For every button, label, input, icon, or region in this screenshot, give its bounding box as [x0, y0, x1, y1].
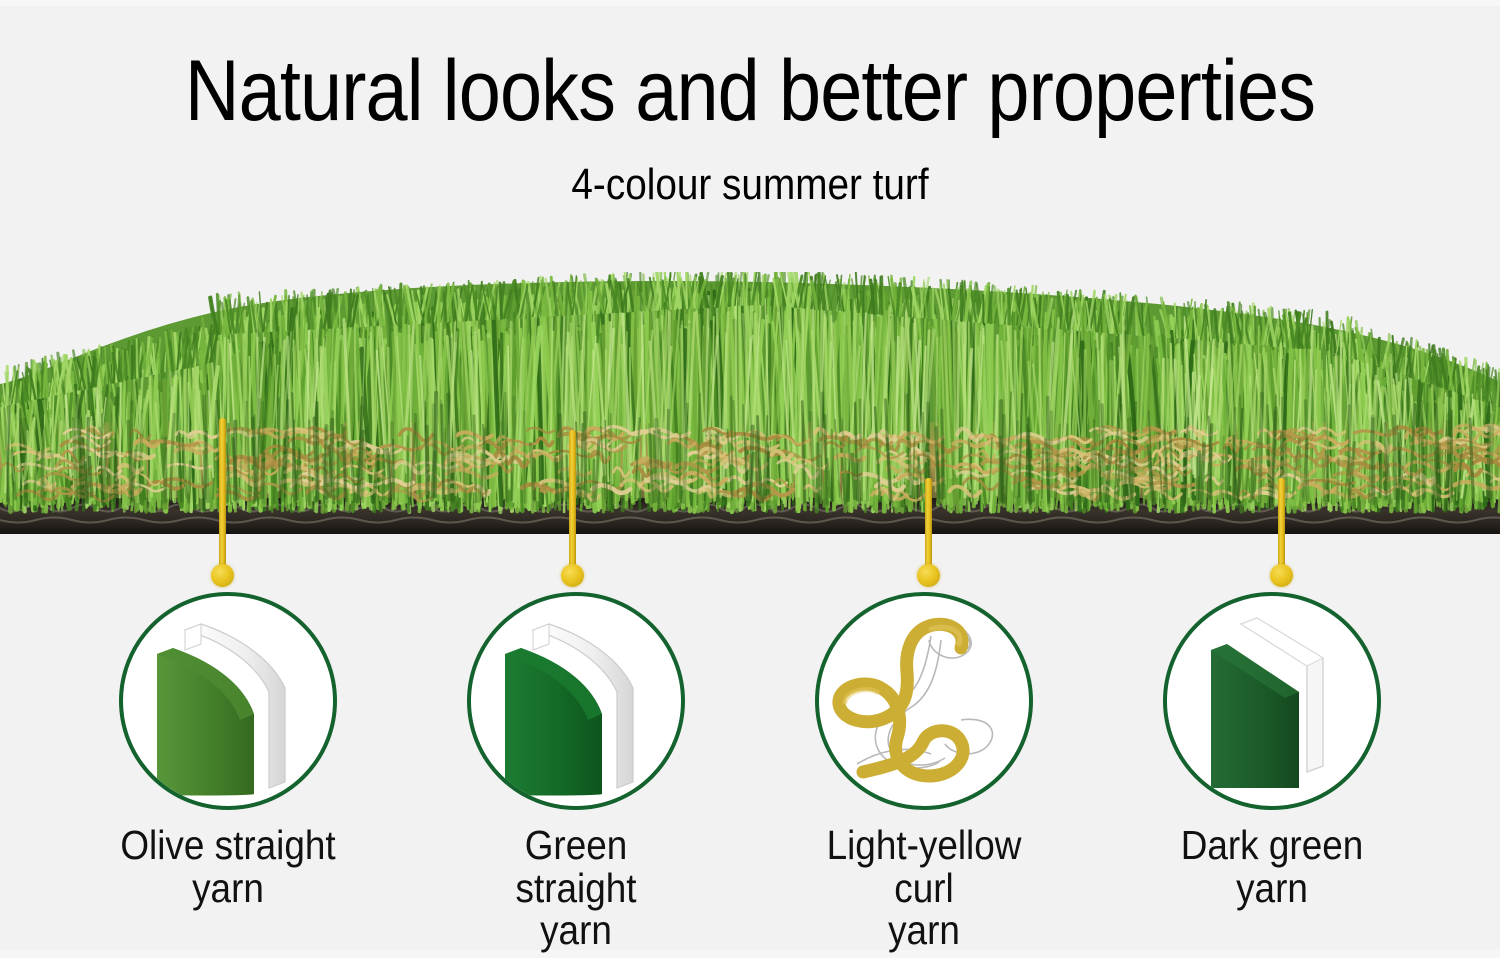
dark-green-flat-blade-icon [1163, 592, 1381, 810]
pointer-dot [561, 564, 584, 587]
curled-yarn-icon [815, 592, 1033, 810]
feature-label: Light-yellow curl yarn [816, 824, 1032, 952]
feature-olive-straight-yarn[interactable]: Olive straight yarn [108, 592, 348, 952]
feature-dark-green-yarn[interactable]: Dark green yarn [1152, 592, 1392, 952]
page-title: Natural looks and better properties [90, 48, 1410, 134]
green-curved-blade-icon [467, 592, 685, 810]
pointer-dot [917, 564, 940, 587]
pointer-dot [1270, 564, 1293, 587]
olive-curved-blade-icon [119, 592, 337, 810]
feature-label: Olive straight yarn [120, 824, 336, 909]
page-subtitle: 4-colour summer turf [90, 160, 1410, 210]
feature-light-yellow-curl-yarn[interactable]: Light-yellow curl yarn [804, 592, 1044, 952]
feature-row: Olive straight yarn [0, 592, 1500, 952]
pointer-line [1278, 478, 1285, 570]
pointer-line [925, 478, 932, 570]
feature-label: Dark green yarn [1164, 824, 1380, 909]
top-edge-band [0, 0, 1500, 6]
feature-label: Green straight yarn [468, 824, 684, 952]
infographic-page: Natural looks and better properties 4-co… [0, 0, 1500, 958]
pointer-line [569, 430, 576, 570]
pointer-line [219, 418, 226, 570]
header-block: Natural looks and better properties 4-co… [0, 48, 1500, 210]
pointer-dot [211, 564, 234, 587]
feature-green-straight-yarn[interactable]: Green straight yarn [456, 592, 696, 952]
